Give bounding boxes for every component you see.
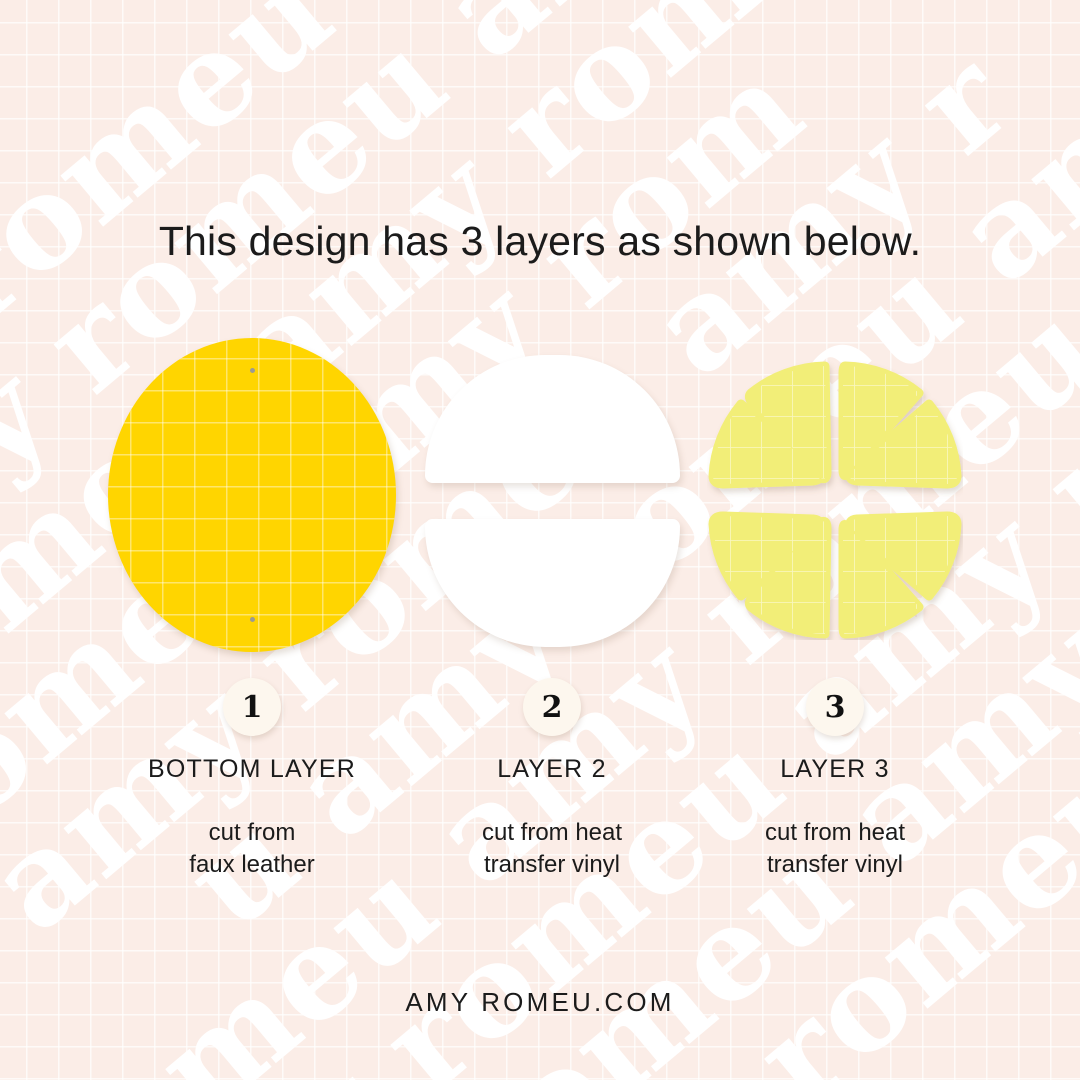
footer-brand: AMY ROMEU.COM (0, 987, 1080, 1018)
half-circle-bottom (425, 519, 680, 647)
layer-number-badge-2: 2 (523, 678, 581, 736)
layer-number-badge-3: 3 (806, 678, 864, 736)
layer-number-badge-1: 1 (223, 678, 281, 736)
layer-3-artwork (655, 330, 1015, 660)
citrus-slice-icon (707, 360, 963, 640)
layer-column-3: 3 LAYER 3 cut from heat transfer vinyl (655, 330, 1015, 930)
layer-desc-line: transfer vinyl (655, 849, 1015, 881)
white-half-circles-shape (425, 355, 680, 647)
layer-desc-line: cut from heat (655, 817, 1015, 849)
registration-dot-icon (250, 617, 255, 622)
layer-description-3: cut from heat transfer vinyl (655, 817, 1015, 882)
ellipse-grid-overlay (108, 338, 396, 652)
yellow-ellipse-shape (108, 338, 396, 652)
registration-dot-icon (250, 368, 255, 373)
citrus-segments-shape (707, 360, 963, 640)
layers-row: 1 BOTTOM LAYER cut from faux leather 2 L… (0, 330, 1080, 930)
half-circle-top (425, 355, 680, 483)
page-title: This design has 3 layers as shown below. (0, 218, 1080, 265)
poster-canvas: amy romeu amy r u amy romeu amy omeu amy… (0, 0, 1080, 1080)
layer-title-3: LAYER 3 (655, 755, 1015, 784)
